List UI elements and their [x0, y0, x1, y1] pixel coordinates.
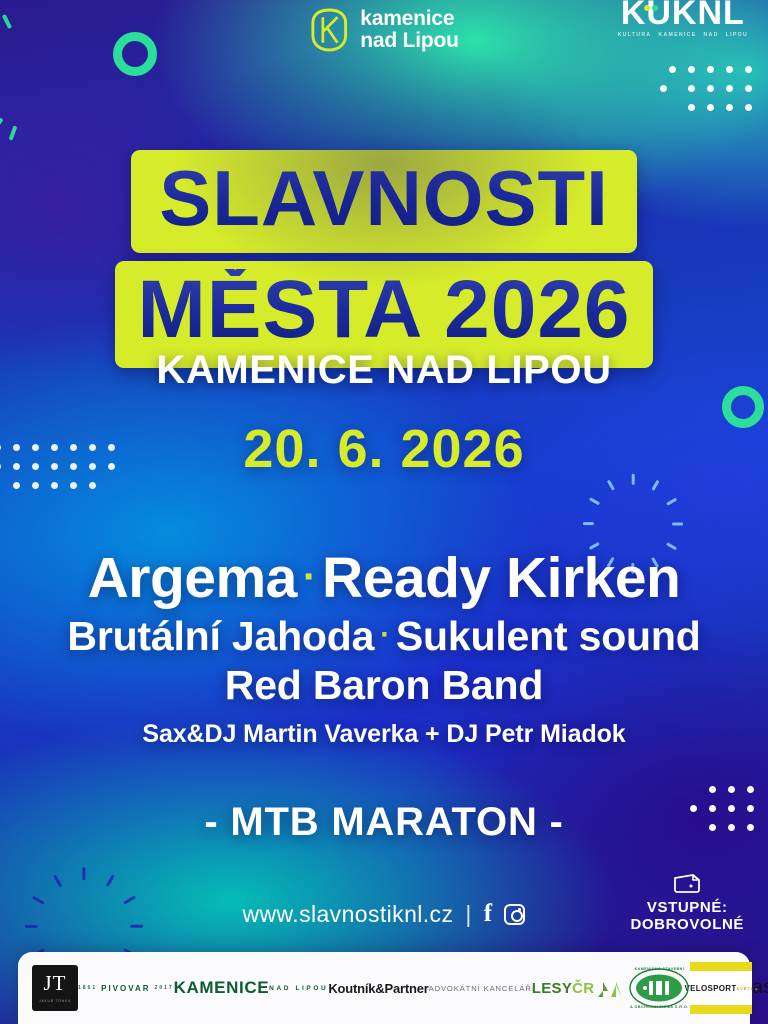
event-date: 20. 6. 2026	[0, 418, 768, 480]
kuknl-sub-0: KULTURA	[618, 32, 652, 38]
kuknl-wordmark: KUKNL	[618, 0, 748, 30]
sponsor-pivovar-year-right: 2017	[155, 985, 174, 991]
sponsor-kamenicka-top: KAMENICKÁ STAVEBNÍ	[628, 967, 690, 971]
instagram-icon[interactable]	[504, 904, 525, 925]
artist-red-baron-band: Red Baron Band	[225, 662, 543, 708]
sponsor-koutnik-main: Koutník&Partner	[328, 981, 428, 996]
admission-line-2: DOBROVOLNÉ	[630, 916, 744, 933]
title-line-2-text: MĚSTA 2026	[137, 269, 630, 350]
lineup-bullet: ·	[297, 553, 322, 599]
sponsor-koutnik-sub: ADVOKÁTNÍ KANCELÁŘ	[429, 984, 532, 993]
admission-line-1: VSTUPNÉ:	[630, 899, 744, 916]
website-link[interactable]: www.slavnostiknl.cz	[243, 901, 454, 928]
lineup-row-1: Argema·Ready Kirken	[0, 548, 768, 610]
title-line-1: SLAVNOSTI	[131, 150, 637, 253]
sponsor-lesy-accent: ČR	[572, 980, 594, 997]
lineup-bullet: ·	[374, 618, 396, 651]
links-divider: |	[465, 901, 471, 928]
sponsor-jt-glyph: JT	[44, 973, 67, 994]
city-logo[interactable]: kamenice nad Lipou	[309, 8, 459, 52]
poster-title: SLAVNOSTI MĚSTA 2026	[0, 150, 768, 368]
sponsor-pivovar-main: KAMENICE	[174, 979, 269, 997]
city-logo-line2: nad Lipou	[360, 30, 459, 52]
sponsor-velosport-main: VELOSPORT	[685, 984, 737, 993]
sponsor-jt-caption: JAKUB TRNKA	[39, 999, 71, 1003]
sponsor-lesy-main: LESY	[532, 980, 572, 997]
lineup-row-3: Red Baron Band	[0, 663, 768, 709]
sponsor-kamenicka-stavebni[interactable]: KAMENICKÁ STAVEBNÍ A OBCHODNÍ FIRMA S.R.…	[628, 967, 690, 1009]
sponsor-lesy-wordmark: LESYČR	[532, 980, 595, 997]
ticket-icon	[672, 872, 702, 894]
kuknl-sub-2: NAD	[704, 32, 719, 38]
kuknl-sub-1: KAMENICE	[658, 32, 696, 38]
artist-sukulent-sound: Sukulent sound	[396, 613, 701, 659]
facebook-icon[interactable]: f	[484, 900, 493, 928]
sponsor-jt[interactable]: JT JAKUB TRNKA	[32, 965, 78, 1011]
lineup-list: Argema·Ready Kirken Brutální Jahoda·Suku…	[0, 548, 768, 749]
artist-brutalni-jahoda: Brutální Jahoda	[67, 613, 374, 659]
sponsor-pivovar-word: PIVOVAR	[101, 984, 150, 993]
poster-subtitle: KAMENICE NAD LIPOU	[0, 348, 768, 393]
sponsor-pivovar-row1: 1861 PIVOVAR 2017	[78, 984, 174, 993]
kuknl-logo[interactable]: KUKNL KULTURA KAMENICE NAD LIPOU	[618, 0, 748, 38]
title-line-1-text: SLAVNOSTI	[159, 160, 609, 237]
trees-icon	[594, 980, 628, 998]
kuknl-dots-icon	[644, 0, 660, 16]
sponsor-aspire[interactable]: aspire SPORTS	[752, 977, 768, 999]
sponsor-velosport[interactable]: VELOSPORT SVĚTLÁ	[690, 962, 752, 1014]
sponsor-pivovar-sub: NAD LIPOU	[269, 985, 328, 992]
sponsor-koutnik-partner[interactable]: Koutník&Partner ADVOKÁTNÍ KANCELÁŘ	[328, 981, 531, 996]
sponsor-aspire-main: aspire	[752, 977, 768, 999]
leaf-k-mark-icon	[309, 8, 349, 52]
artist-ready-kirken: Ready Kirken	[322, 546, 680, 610]
sponsor-pivovar-year-left: 1861	[78, 985, 97, 991]
city-logo-line1: kamenice	[360, 8, 459, 30]
lineup-row-2: Brutální Jahoda·Sukulent sound	[0, 614, 768, 660]
oval-emblem-icon	[628, 967, 690, 1009]
admission-badge: VSTUPNÉ: DOBROVOLNÉ	[630, 872, 744, 934]
kuknl-subtitle: KULTURA KAMENICE NAD LIPOU	[618, 32, 748, 38]
artist-djs: Sax&DJ Martin Vaverka + DJ Petr Miadok	[142, 720, 625, 748]
artist-argema: Argema	[88, 546, 297, 610]
poster-canvas: kamenice nad Lipou KUKNL KULTURA KAMENIC…	[0, 0, 768, 1024]
sponsor-bar: JT JAKUB TRNKA 1861 PIVOVAR 2017 KAMENIC…	[18, 952, 750, 1024]
kuknl-sub-3: LIPOU	[726, 32, 748, 38]
sponsor-pivovar-kamenice[interactable]: 1861 PIVOVAR 2017 KAMENICE NAD LIPOU	[78, 979, 328, 997]
sponsor-lesy-cr[interactable]: LESYČR	[532, 978, 629, 998]
mtb-maraton-label: - MTB MARATON -	[0, 800, 768, 845]
lineup-row-4: Sax&DJ Martin Vaverka + DJ Petr Miadok	[0, 719, 768, 749]
sponsor-kamenicka-bottom: A OBCHODNÍ FIRMA S.R.O.	[628, 1005, 690, 1009]
